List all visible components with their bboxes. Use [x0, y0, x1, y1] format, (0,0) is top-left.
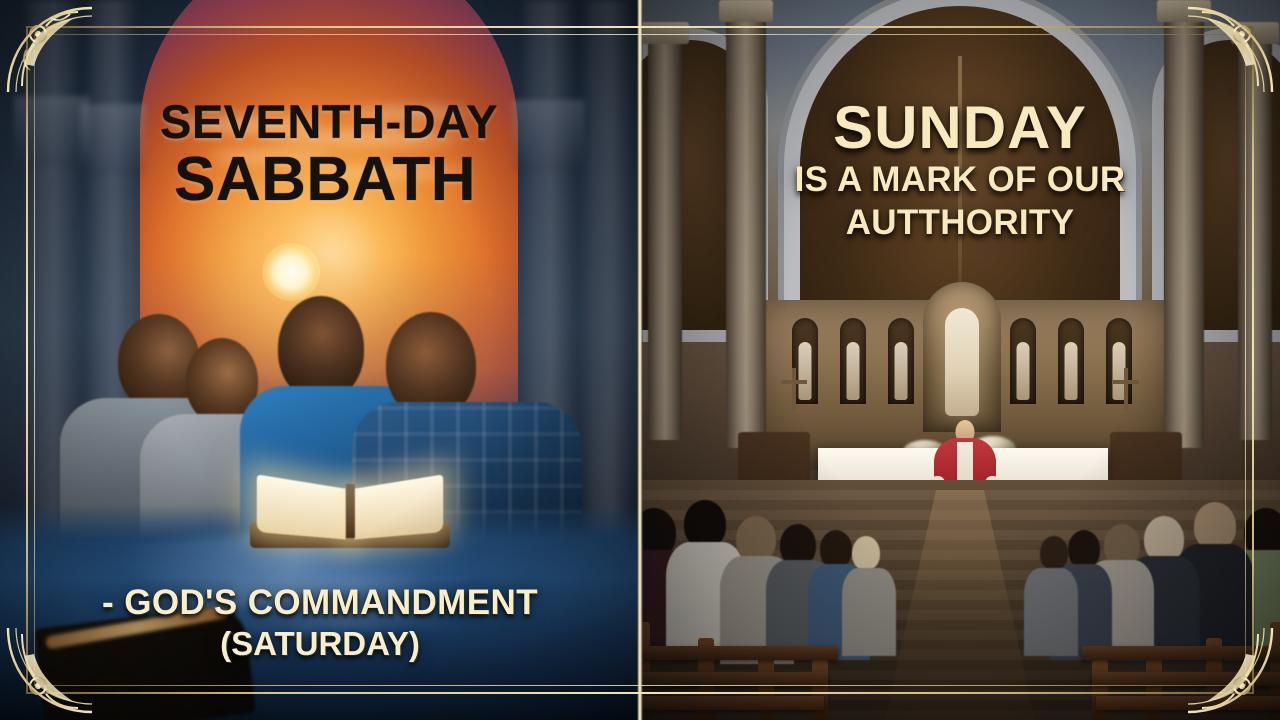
- poster-canvas: SEVENTH-DAY SABBATH - GOD'S COMMANDMENT …: [0, 0, 1280, 720]
- left-headline: SEVENTH-DAY SABBATH: [0, 96, 640, 212]
- left-panel-sabbath: SEVENTH-DAY SABBATH - GOD'S COMMANDMENT …: [0, 0, 640, 720]
- right-headline-line2: IS A MARK OF OUR: [640, 158, 1280, 201]
- cross-icon: [792, 368, 796, 410]
- center-niche: [923, 282, 1001, 432]
- left-headline-line1: SEVENTH-DAY: [0, 96, 640, 148]
- left-caption-line1: - GOD'S COMMANDMENT: [0, 582, 640, 624]
- saint-statue: [945, 308, 979, 416]
- left-headline-line2: SABBATH: [0, 148, 640, 212]
- left-caption-line2: (SATURDAY): [0, 624, 640, 664]
- right-headline-line1: SUNDAY: [640, 98, 1280, 158]
- pew-block-left: [640, 490, 878, 720]
- open-bible: [258, 482, 443, 544]
- pew-block-right: [1042, 490, 1280, 720]
- right-headline-line3: AUTTHORITY: [640, 201, 1280, 244]
- right-headline: SUNDAY IS A MARK OF OUR AUTTHORITY: [640, 98, 1280, 244]
- cross-icon: [1124, 368, 1128, 410]
- left-caption: - GOD'S COMMANDMENT (SATURDAY): [0, 582, 640, 664]
- right-panel-sunday: SUNDAY IS A MARK OF OUR AUTTHORITY: [640, 0, 1280, 720]
